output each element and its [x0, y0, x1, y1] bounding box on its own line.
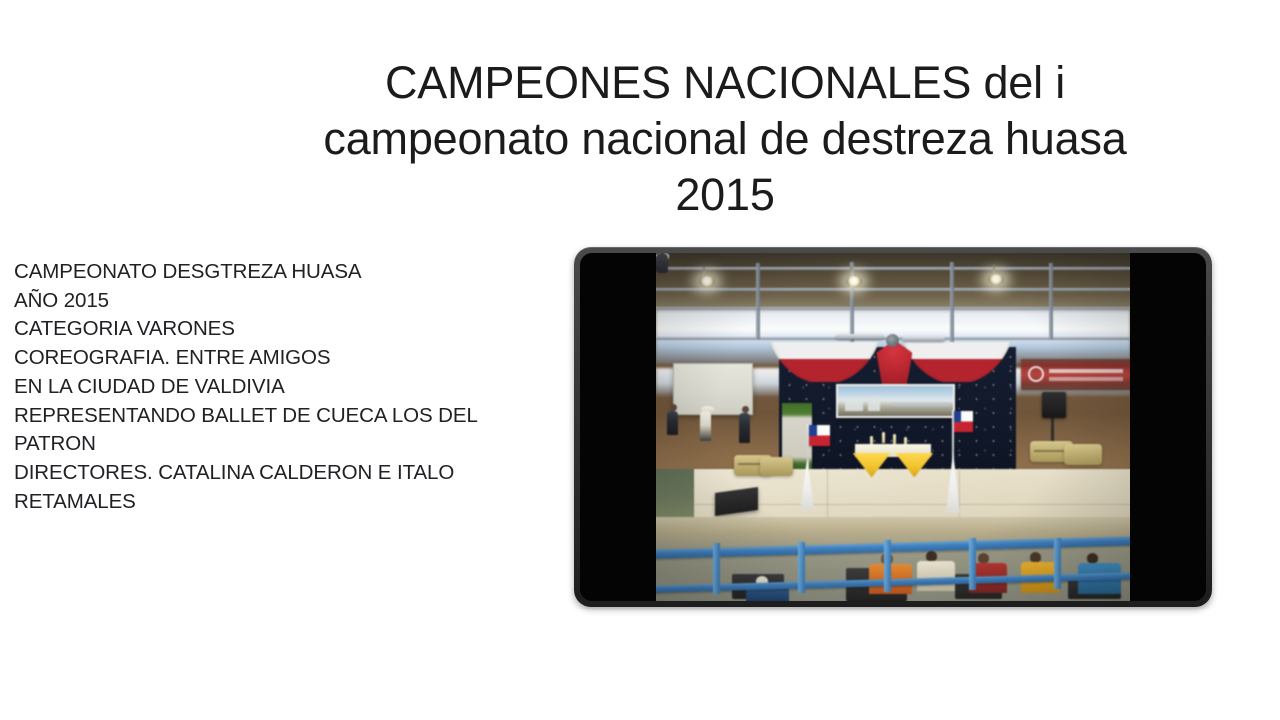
slide-title: CAMPEONES NACIONALES del i campeonato na… [230, 55, 1220, 223]
standing-person [700, 411, 711, 441]
standing-person [667, 411, 678, 435]
slide-body-text: CAMPEONATO DESGTREZA HUASA AÑO 2015 CATE… [14, 258, 544, 516]
body-line: REPRESENTANDO BALLET DE CUECA LOS DEL [14, 402, 544, 431]
body-line: CATEGORIA VARONES [14, 315, 544, 344]
gym-scene [656, 253, 1130, 601]
sponsor-banner [1021, 359, 1130, 390]
body-line: RETAMALES [14, 488, 544, 517]
chilean-flag [809, 425, 830, 446]
player-reflection [574, 609, 1212, 714]
stage-banner-photo [836, 384, 955, 419]
hay-bale [760, 457, 793, 476]
body-line: COREOGRAFIA. ENTRE AMIGOS [14, 344, 544, 373]
standing-person [739, 413, 750, 443]
body-line: CAMPEONATO DESGTREZA HUASA [14, 258, 544, 287]
body-line: DIRECTORES. CATALINA CALDERON E ITALO [14, 459, 544, 488]
presentation-slide: CAMPEONES NACIONALES del i campeonato na… [0, 0, 1280, 720]
body-line: PATRON [14, 430, 544, 459]
video-thumbnail-image [656, 253, 1130, 601]
video-player[interactable] [574, 247, 1212, 607]
player-screen[interactable] [580, 253, 1206, 601]
pa-speaker [1042, 392, 1066, 418]
player-bezel [574, 247, 1212, 607]
chilean-flag [954, 411, 973, 432]
body-line: EN LA CIUDAD DE VALDIVIA [14, 373, 544, 402]
foreground-railing-area [656, 517, 1130, 601]
body-line: AÑO 2015 [14, 287, 544, 316]
hay-bale [1064, 444, 1102, 465]
